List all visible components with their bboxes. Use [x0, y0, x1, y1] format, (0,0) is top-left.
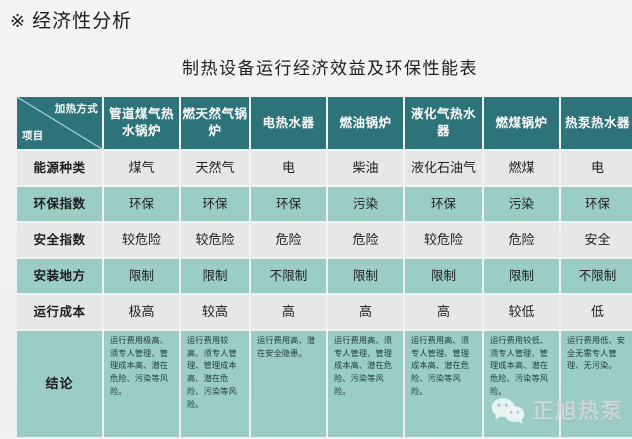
column-header-natural-gas: 燃天然气锅炉 — [181, 97, 249, 149]
conclusion-text: 运行费用高、须专人管理、管理成本高、潜在危险、污染等风险。 — [405, 331, 482, 437]
table-body: 能源种类 煤气 天然气 电 柴油 液化石油气 燃煤 电 环保指数 环保 环保 环… — [17, 151, 632, 437]
corner-header-top-label: 加热方式 — [55, 102, 98, 116]
conclusion-text: 运行费用高、须专人管理、管理成本高、潜在危险、污染等风险。 — [328, 331, 403, 437]
cell-value: 危险 — [251, 223, 326, 257]
row-label-operating-cost: 运行成本 — [17, 295, 102, 329]
cell-value: 危险 — [484, 223, 559, 257]
cell-value: 电 — [561, 151, 632, 185]
table-row: 环保指数 环保 环保 环保 污染 环保 污染 环保 — [17, 187, 632, 221]
cell-value: 限制 — [484, 259, 559, 293]
row-label-conclusion: 结论 — [17, 331, 102, 437]
cell-value: 液化石油气 — [405, 151, 482, 185]
cell-value: 高 — [328, 295, 403, 329]
comparison-table: 加热方式 项目 管道煤气热水锅炉 燃天然气锅炉 电热水器 燃油锅炉 液化气热水器… — [15, 95, 632, 439]
cell-value: 环保 — [104, 187, 179, 221]
table-row: 安全指数 较危险 较危险 危险 危险 较危险 危险 安全 — [17, 223, 632, 257]
cell-value: 危险 — [328, 223, 403, 257]
cell-value: 污染 — [328, 187, 403, 221]
table-row: 安装地方 限制 限制 不限制 限制 限制 限制 不限制 — [17, 259, 632, 293]
cell-value: 环保 — [181, 187, 249, 221]
column-header-heat-pump: 热泵热水器 — [561, 97, 632, 149]
cell-value: 天然气 — [181, 151, 249, 185]
column-header-coal-boiler: 燃煤锅炉 — [484, 97, 559, 149]
table-header-row: 加热方式 项目 管道煤气热水锅炉 燃天然气锅炉 电热水器 燃油锅炉 液化气热水器… — [17, 97, 632, 149]
cell-value: 较危险 — [405, 223, 482, 257]
table-caption: 制热设备运行经济效益及环保性能表 — [0, 54, 632, 79]
conclusion-text: 运行费用低、安全无需专人管理、无污染。 — [561, 331, 632, 437]
cell-value: 较危险 — [181, 223, 249, 257]
cell-value: 高 — [405, 295, 482, 329]
cell-value: 较低 — [484, 295, 559, 329]
row-label-energy-type: 能源种类 — [17, 151, 102, 185]
cell-value: 污染 — [484, 187, 559, 221]
row-label-environmental-index: 环保指数 — [17, 187, 102, 221]
cell-value: 环保 — [561, 187, 632, 221]
column-header-lpg-water-heater: 液化气热水器 — [405, 97, 482, 149]
cell-value: 安全 — [561, 223, 632, 257]
conclusion-text: 运行费用较低、须专人管理、管理成本高、潜在危险、污染等风险。 — [484, 331, 559, 437]
cell-value: 限制 — [181, 259, 249, 293]
table-row: 能源种类 煤气 天然气 电 柴油 液化石油气 燃煤 电 — [17, 151, 632, 185]
cell-value: 限制 — [104, 259, 179, 293]
table-row: 运行成本 极高 较高 高 高 高 较低 低 — [17, 295, 632, 329]
cell-value: 燃煤 — [484, 151, 559, 185]
corner-header-bottom-label: 项目 — [22, 129, 44, 143]
cell-value: 极高 — [104, 295, 179, 329]
cell-value: 高 — [251, 295, 326, 329]
cell-value: 限制 — [328, 259, 403, 293]
page-root: ※经济性分析 制热设备运行经济效益及环保性能表 — [0, 0, 632, 431]
column-header-electric-water-heater: 电热水器 — [251, 97, 326, 149]
cell-value: 不限制 — [561, 259, 632, 293]
conclusion-text: 运行费用高、潜在安全隐患。 — [251, 331, 326, 437]
conclusion-text: 运行费用极高、须专人管理、管理成本高、潜在危险、污染等风险。 — [104, 331, 179, 437]
cell-value: 环保 — [251, 187, 326, 221]
comparison-table-wrapper: 加热方式 项目 管道煤气热水锅炉 燃天然气锅炉 电热水器 燃油锅炉 液化气热水器… — [15, 95, 620, 439]
cell-value: 煤气 — [104, 151, 179, 185]
column-header-pipeline-coal-gas: 管道煤气热水锅炉 — [104, 97, 179, 149]
table-row-conclusion: 结论 运行费用极高、须专人管理、管理成本高、潜在危险、污染等风险。 运行费用较高… — [17, 331, 632, 437]
cell-value: 较危险 — [104, 223, 179, 257]
cell-value: 柴油 — [328, 151, 403, 185]
row-label-installation-place: 安装地方 — [17, 259, 102, 293]
conclusion-text: 运行费用较高、须专人管理、管理成本高、潜在危险、污染等风险。 — [181, 331, 249, 437]
cell-value: 较高 — [181, 295, 249, 329]
section-title-text: 经济性分析 — [32, 11, 132, 32]
cell-value: 环保 — [405, 187, 482, 221]
cell-value: 电 — [251, 151, 326, 185]
table-header: 加热方式 项目 管道煤气热水锅炉 燃天然气锅炉 电热水器 燃油锅炉 液化气热水器… — [17, 97, 632, 149]
row-label-safety-index: 安全指数 — [17, 223, 102, 257]
column-header-oil-boiler: 燃油锅炉 — [328, 97, 403, 149]
cell-value: 低 — [561, 295, 632, 329]
reference-mark-icon: ※ — [10, 11, 26, 31]
section-title: ※经济性分析 — [10, 6, 132, 33]
cell-value: 不限制 — [251, 259, 326, 293]
corner-header-cell: 加热方式 项目 — [17, 97, 102, 149]
cell-value: 限制 — [405, 259, 482, 293]
